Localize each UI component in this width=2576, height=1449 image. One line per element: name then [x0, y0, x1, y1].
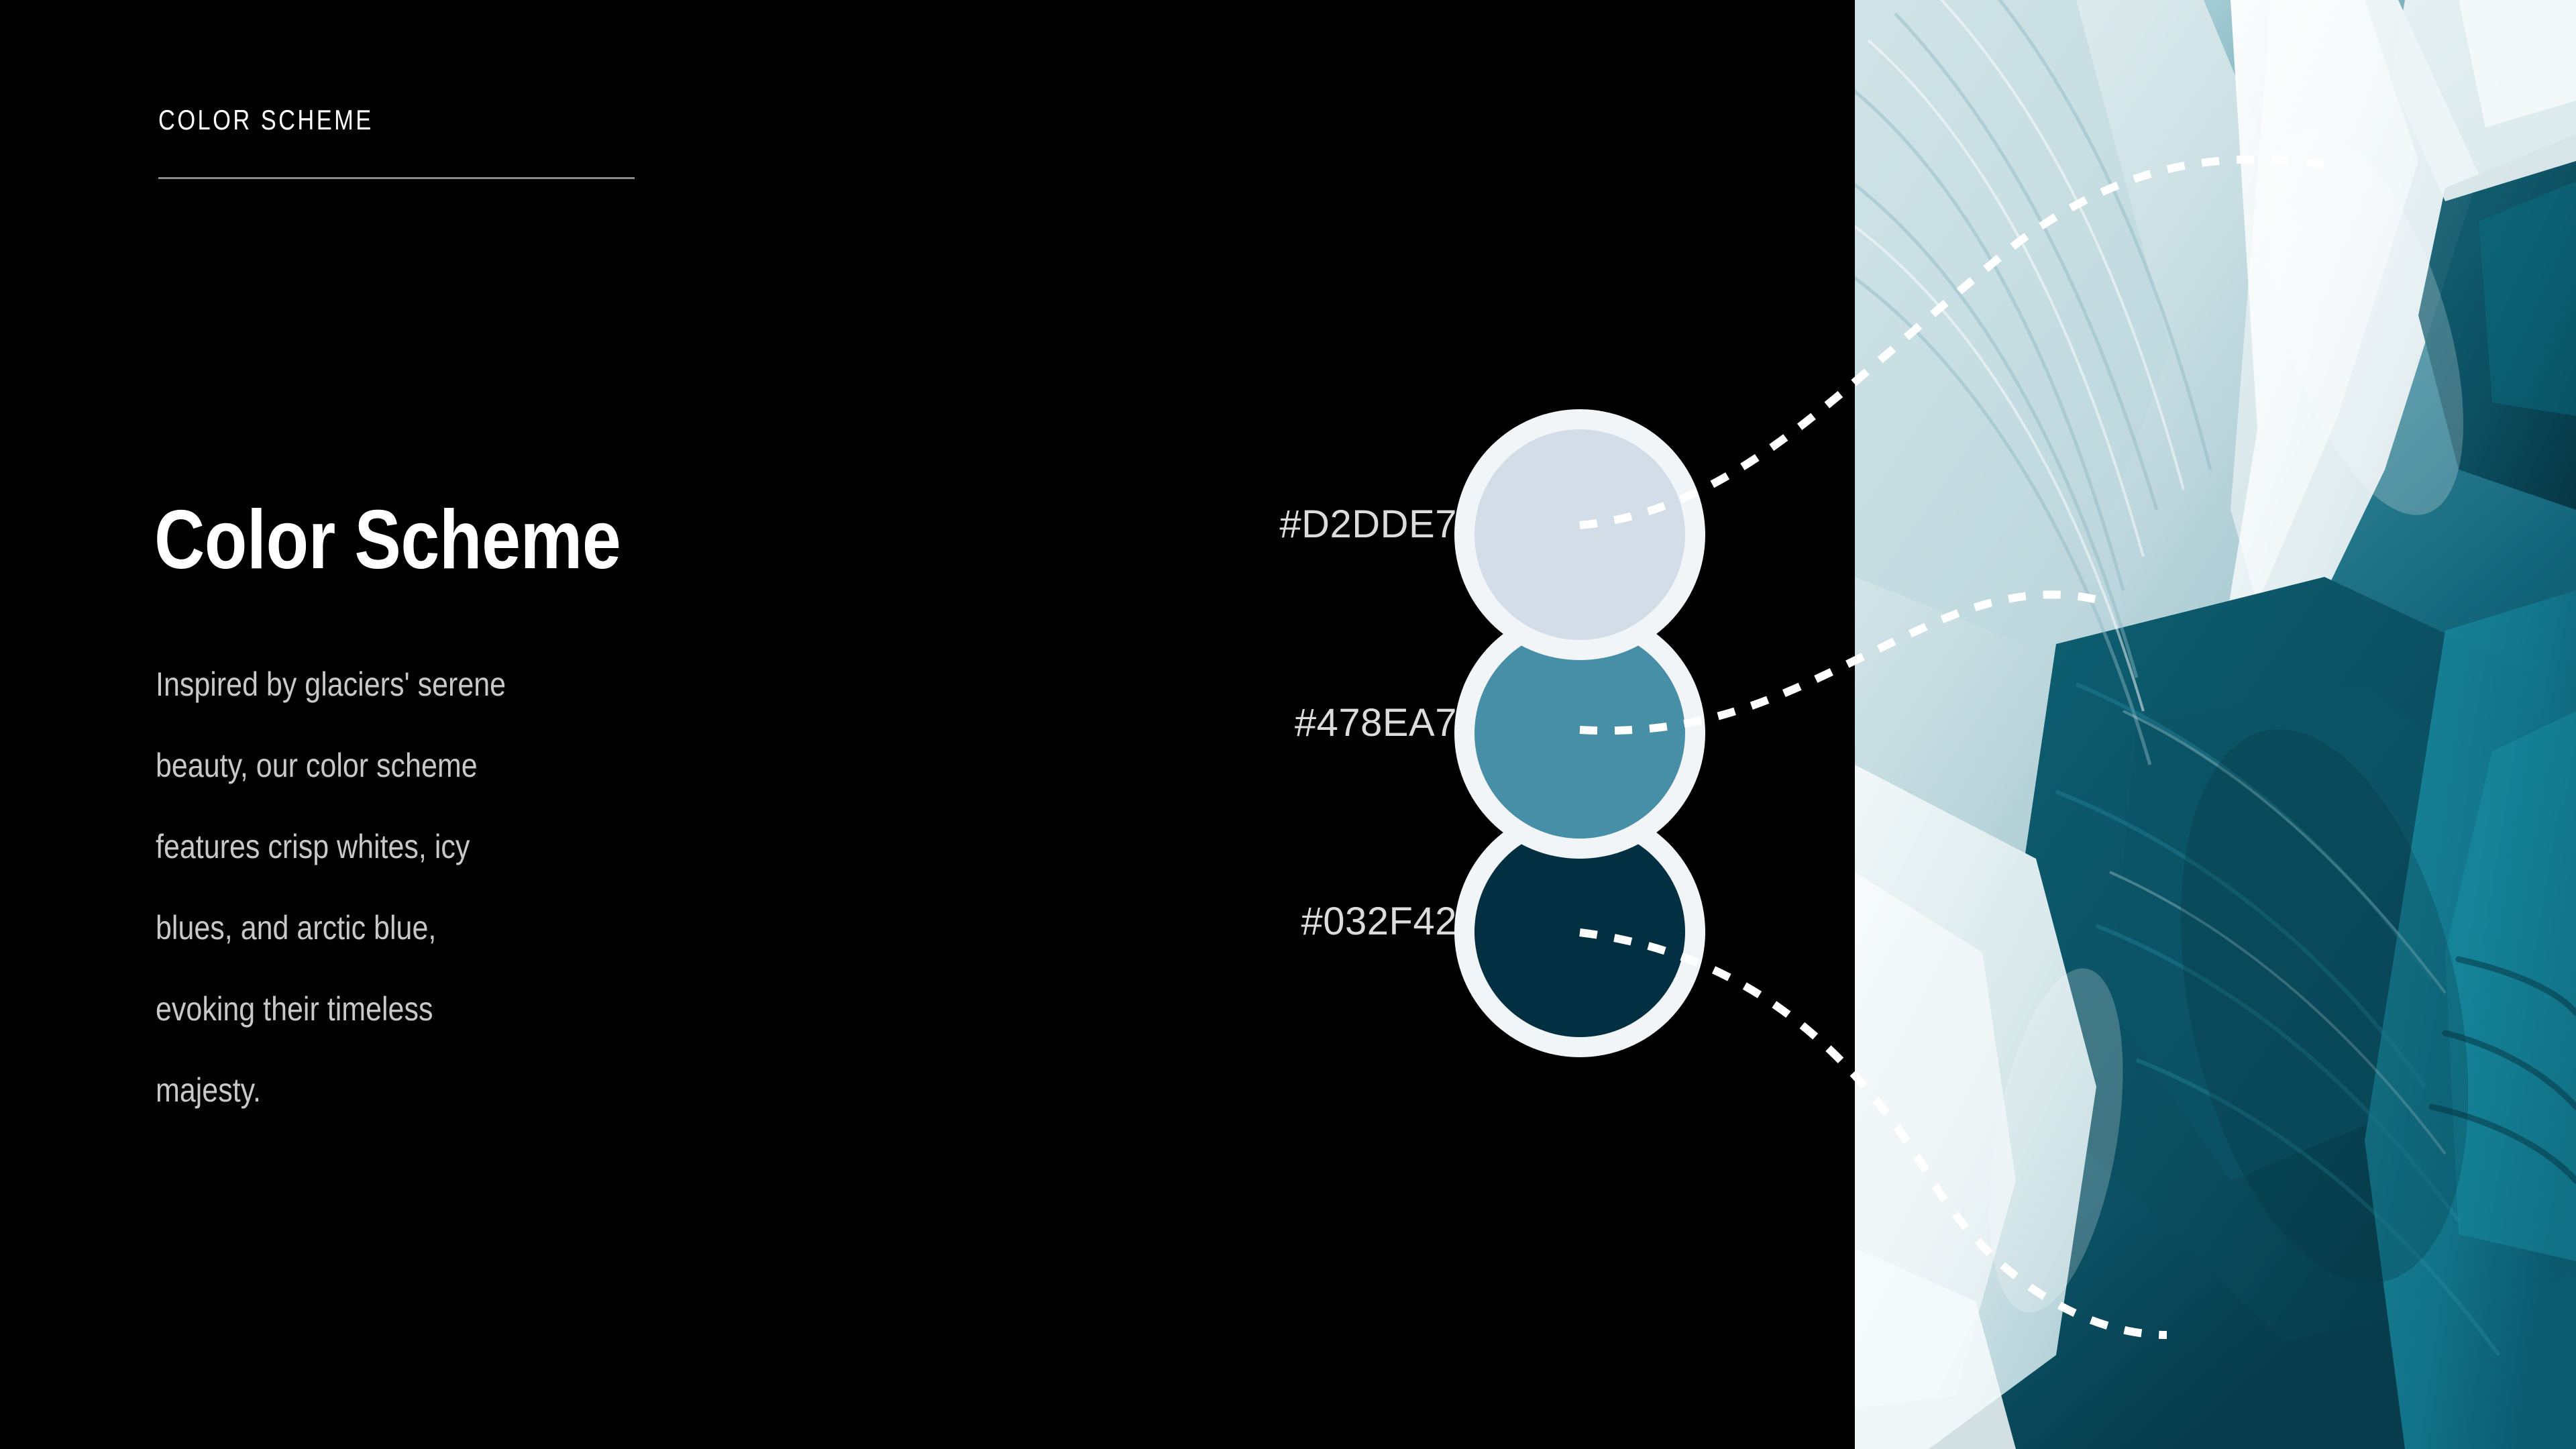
body-paragraph: Inspired by glaciers' serene beauty, our… [156, 644, 525, 1131]
swatch-circle-fill [1474, 429, 1685, 640]
swatch-circle-ring[interactable] [1454, 409, 1705, 660]
eyebrow-label: COLOR SCHEME [158, 104, 374, 136]
color-swatch-stack: #032F42 #478EA7 #D2DDE7 [1167, 402, 1717, 1073]
glacier-photo-panel [1855, 0, 2576, 1449]
swatch-row-crisp-white[interactable]: #D2DDE7 [1167, 402, 1717, 661]
eyebrow-divider [158, 177, 635, 179]
swatch-hex-label: #478EA7 [1295, 700, 1457, 745]
slide-canvas: COLOR SCHEME Color Scheme Inspired by gl… [0, 0, 2576, 1449]
page-title: Color Scheme [154, 496, 621, 584]
swatch-hex-label: #032F42 [1301, 899, 1457, 944]
glacier-photo-image [1855, 0, 2576, 1449]
swatch-hex-label: #D2DDE7 [1279, 502, 1457, 547]
